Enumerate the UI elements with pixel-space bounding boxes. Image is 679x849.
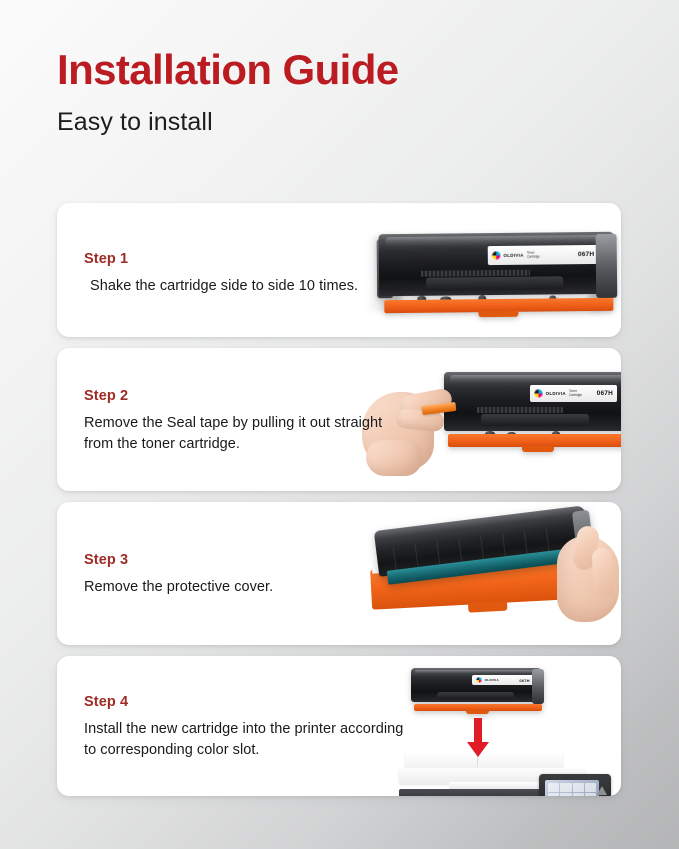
cartridge-label: OLDIVIA Toner Cartridge 067H bbox=[530, 385, 617, 403]
cartridge-line2: Cartridge bbox=[569, 394, 582, 398]
cartridge-top-lip bbox=[450, 375, 621, 383]
cartridge-model: 067H bbox=[578, 251, 594, 258]
step-1-text-block: Step 1 Shake the cartridge side to side … bbox=[84, 203, 414, 337]
step-4-description: Install the new cartridge into the print… bbox=[84, 719, 414, 760]
step-4-text-block: Step 4 Install the new cartridge into th… bbox=[84, 656, 414, 796]
cartridge-brand: OLDIVIA bbox=[546, 391, 566, 396]
screen-tile bbox=[573, 783, 584, 792]
cartridge-brand: OLDIVIA bbox=[503, 253, 523, 258]
toner-cartridge-icon: OLDIVIA Toner Cartridge 067H bbox=[379, 232, 616, 318]
step-1-label: Step 1 bbox=[84, 251, 414, 267]
cartridge-top-lip bbox=[415, 670, 539, 675]
cartridge-hopper bbox=[437, 692, 514, 699]
step-card-3: Step 3 Remove the protective cover. bbox=[57, 502, 621, 645]
page-title: Installation Guide bbox=[57, 48, 679, 92]
cartridge-foot bbox=[522, 446, 554, 452]
screen-tile bbox=[560, 793, 571, 797]
step-2-text-block: Step 2 Remove the Seal tape by pulling i… bbox=[84, 348, 414, 491]
cartridge-foot bbox=[478, 311, 518, 317]
cover-notch bbox=[468, 601, 508, 613]
step-card-4: Step 4 Install the new cartridge into th… bbox=[57, 656, 621, 796]
printer-control-panel bbox=[539, 774, 611, 796]
cartridge-foot bbox=[466, 711, 488, 714]
step-card-1: Step 1 Shake the cartridge side to side … bbox=[57, 203, 621, 337]
step-3-label: Step 3 bbox=[84, 552, 414, 568]
page-subtitle: Easy to install bbox=[57, 108, 679, 137]
step-2-label: Step 2 bbox=[84, 388, 414, 404]
step-3-text-block: Step 3 Remove the protective cover. bbox=[84, 502, 414, 645]
cmyk-circle-icon bbox=[534, 389, 543, 398]
arrow-head bbox=[467, 742, 489, 757]
step-4-illustration: OLDIVIA 067H bbox=[391, 656, 621, 796]
step-card-2: Step 2 Remove the Seal tape by pulling i… bbox=[57, 348, 621, 491]
cartridge-model: 067H bbox=[597, 390, 613, 397]
cartridge-orange-base bbox=[448, 434, 621, 447]
step-1-description: Shake the cartridge side to side 10 time… bbox=[84, 276, 414, 297]
cartridge-vent bbox=[477, 407, 563, 413]
cartridge-vent bbox=[421, 270, 530, 277]
toner-cartridge-icon: OLDIVIA Toner Cartridge 067H bbox=[444, 372, 621, 452]
arrow-shaft bbox=[474, 718, 482, 744]
screen-tile bbox=[560, 783, 571, 792]
cartridge-hopper bbox=[426, 276, 563, 291]
printer-touchscreen bbox=[545, 780, 599, 796]
screen-tile bbox=[548, 783, 559, 792]
cartridge-model: 067H bbox=[519, 678, 529, 683]
toner-cartridge-icon: OLDIVIA 067H bbox=[411, 668, 543, 714]
hand-finger-lower bbox=[591, 547, 614, 598]
printer-brand-logo-icon bbox=[597, 786, 607, 795]
cartridge-brand: OLDIVIA bbox=[485, 678, 499, 682]
cartridge-right-endcap bbox=[596, 233, 618, 297]
screen-tile bbox=[585, 793, 596, 797]
step-4-label: Step 4 bbox=[84, 694, 414, 710]
screen-tile bbox=[585, 783, 596, 792]
step-3-description: Remove the protective cover. bbox=[84, 577, 414, 598]
cmyk-circle-icon bbox=[491, 251, 500, 260]
screen-tile bbox=[573, 793, 584, 797]
step-2-description: Remove the Seal tape by pulling it out s… bbox=[84, 413, 414, 454]
cmyk-circle-icon bbox=[476, 677, 482, 683]
cartridge-right-endcap bbox=[532, 669, 544, 704]
cartridge-label: OLDIVIA Toner Cartridge 067H bbox=[487, 245, 598, 265]
page-header: Installation Guide Easy to install bbox=[0, 0, 679, 137]
screen-tile bbox=[548, 793, 559, 797]
cartridge-line2: Cartridge bbox=[527, 255, 540, 259]
cartridge-label: OLDIVIA 067H bbox=[472, 675, 534, 685]
printer-illustration bbox=[399, 752, 611, 796]
cartridge-hopper bbox=[481, 414, 589, 427]
steps-list: Step 1 Shake the cartridge side to side … bbox=[57, 203, 621, 796]
